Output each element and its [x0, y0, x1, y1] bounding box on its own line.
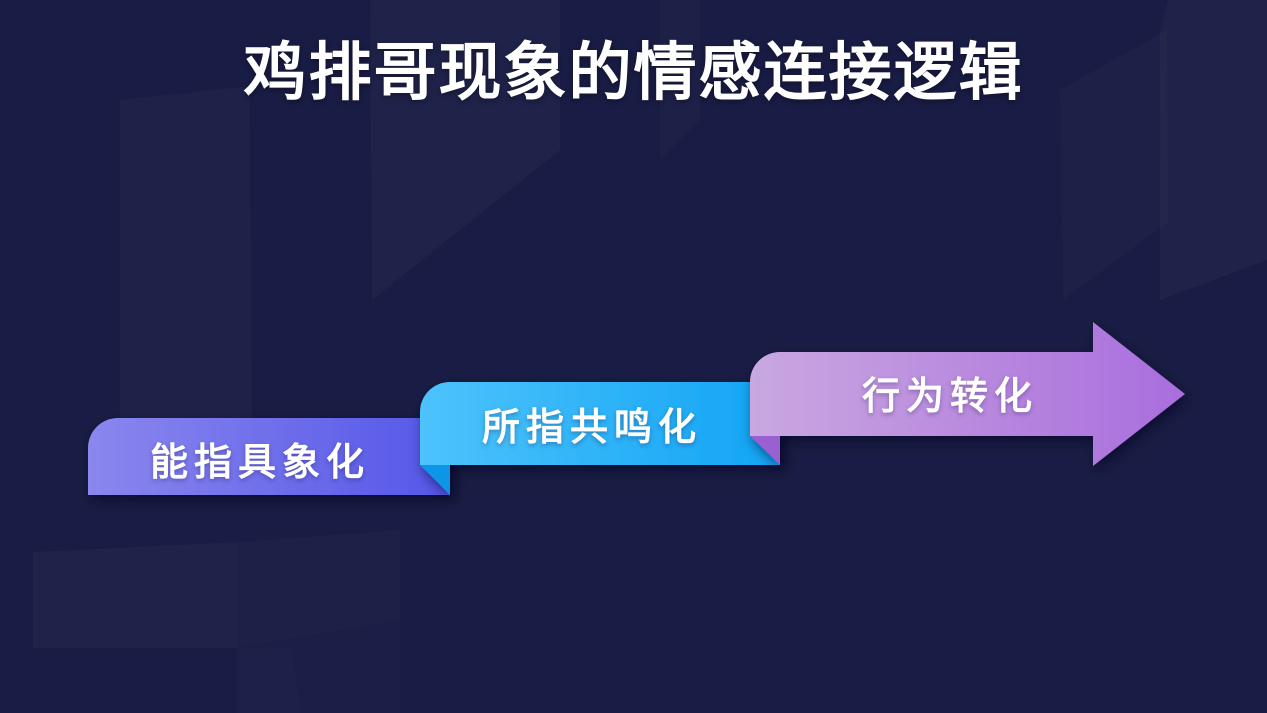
flow-step-1-body[interactable] — [88, 418, 450, 495]
flow-step-3[interactable] — [750, 322, 1185, 466]
flow-step-1[interactable] — [88, 418, 450, 495]
process-flow-diagram — [0, 0, 1267, 713]
flow-step-2[interactable] — [420, 382, 780, 495]
flow-step-3-body[interactable] — [750, 322, 1185, 466]
flow-step-2-body[interactable] — [420, 382, 780, 465]
slide-canvas: 鸡排哥现象的情感连接逻辑 — [0, 0, 1267, 713]
